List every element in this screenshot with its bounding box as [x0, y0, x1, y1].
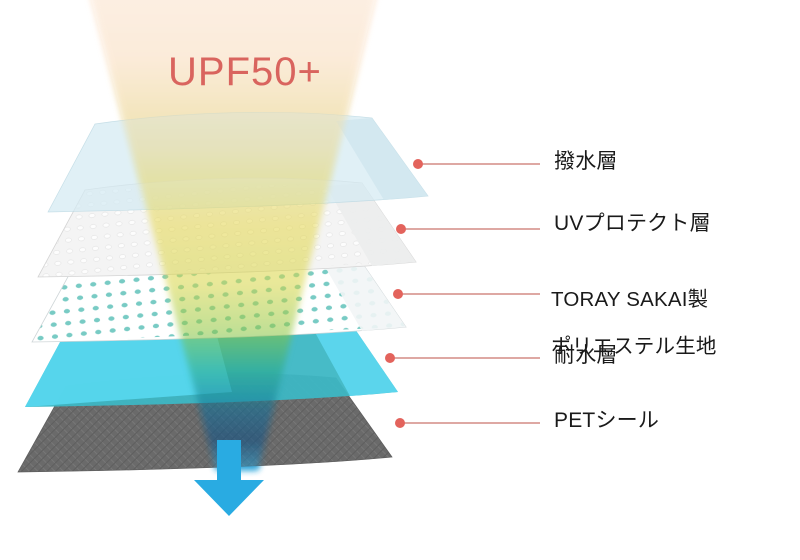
- leader-lines: [385, 159, 540, 428]
- leader-dot-toray-sakai-polyester: [393, 289, 403, 299]
- layer-label-uv-protect: UVプロテクト層: [554, 212, 711, 236]
- leader-dot-pet-seal: [395, 418, 405, 428]
- layer-label-pet-seal: PETシール: [554, 409, 659, 433]
- layer-label-line-1: TORAY SAKAI製: [551, 288, 717, 311]
- figure-canvas: UPF50+ 撥水層 UVプロテクト層 TORAY SAKAI製 ポリエステル生…: [0, 0, 800, 560]
- layer-label-water-resistant: 耐水層: [554, 344, 618, 368]
- leader-dot-uv-protect: [396, 224, 406, 234]
- upf-rating-text: UPF50+: [168, 50, 322, 95]
- layer-label-water-repellent: 撥水層: [554, 150, 618, 174]
- leader-dot-water-resistant: [385, 353, 395, 363]
- leader-dot-water-repellent: [413, 159, 423, 169]
